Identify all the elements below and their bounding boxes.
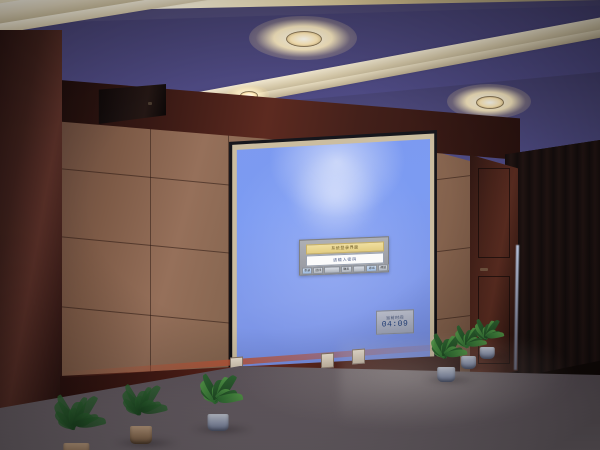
plant-right-1-pot bbox=[438, 367, 456, 381]
plant-left-2 bbox=[118, 382, 164, 444]
osd-btn-exit[interactable]: 退出 bbox=[366, 264, 377, 271]
plant-right-3 bbox=[472, 318, 502, 359]
osd-clock-widget: 当前时间 04:09 bbox=[376, 309, 414, 335]
plant-left-3 bbox=[196, 372, 240, 431]
downlight-1-ring bbox=[286, 31, 322, 47]
plant-left-1-pot bbox=[64, 443, 89, 450]
osd-btn-menu[interactable]: 菜单 bbox=[302, 267, 312, 274]
speaker-badge bbox=[148, 102, 152, 105]
door-handle-icon[interactable] bbox=[480, 268, 488, 271]
plant-left-2-pot bbox=[130, 426, 152, 444]
door-panel-upper bbox=[478, 168, 510, 258]
plant-left-3-pot bbox=[207, 414, 228, 431]
plant-right-3-pot bbox=[480, 347, 495, 359]
osd-clock-time: 04:09 bbox=[382, 319, 409, 329]
plant-left-1 bbox=[50, 392, 103, 450]
osd-dialog[interactable]: 系统登录界面 请输入密码 菜单选择确定退出帮助 bbox=[299, 236, 389, 276]
osd-btn-confirm[interactable]: 确定 bbox=[341, 265, 352, 272]
wall-outlet-2[interactable] bbox=[321, 353, 334, 369]
dark-wood-column-left bbox=[0, 30, 62, 450]
osd-btn-gap2[interactable] bbox=[353, 265, 365, 272]
osd-btn-select[interactable]: 选择 bbox=[313, 266, 323, 273]
projector-hotspot bbox=[287, 151, 384, 241]
downlight-2-ring bbox=[476, 96, 504, 109]
room-photo-scene: 系统登录界面 请输入密码 菜单选择确定退出帮助 当前时间 04:09 bbox=[0, 0, 600, 450]
osd-btn-help[interactable]: 帮助 bbox=[378, 264, 388, 271]
osd-btn-gap1[interactable] bbox=[324, 266, 340, 274]
